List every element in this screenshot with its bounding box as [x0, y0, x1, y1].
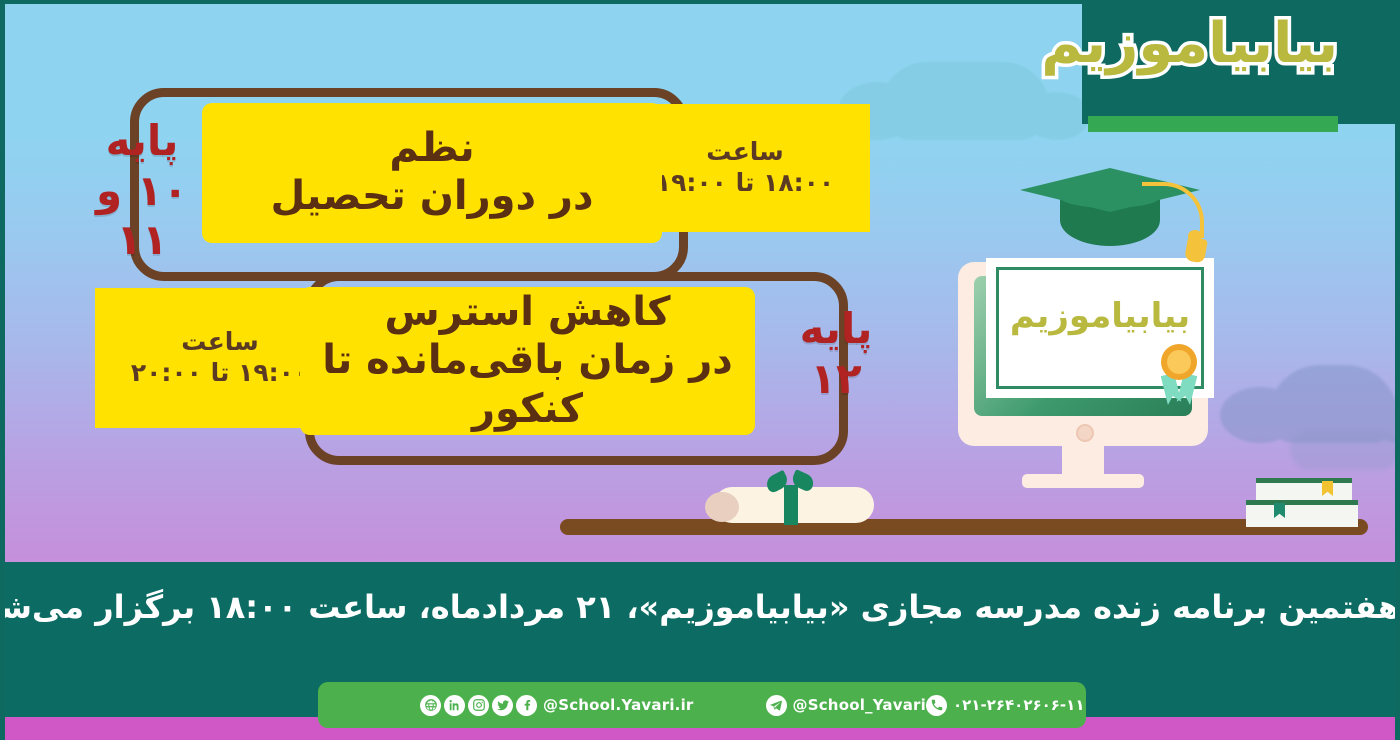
frame-left-border [0, 0, 5, 740]
grade-label-row1: پایه [88, 116, 196, 166]
cloud-decoration-small [1290, 430, 1400, 470]
telegram-group[interactable]: @School_Yavari [766, 695, 926, 716]
poster-canvas: بیابیاموزیم پایه ۱۰ و ۱۱ ساعت ۱۸:۰۰ تا ۱… [0, 0, 1400, 740]
monitor-stand-neck [1062, 446, 1104, 476]
topic-card-row2: کاهش استرس در زمان باقی‌مانده تا کنکور [300, 287, 755, 435]
time-value-row2: ۱۹:۰۰ تا ۲۰:۰۰ [131, 357, 309, 390]
linkedin-icon[interactable] [444, 695, 465, 716]
monitor-stand-base [1022, 474, 1144, 488]
brand-logo-text: بیابیاموزیم [1088, 16, 1338, 72]
frame-right-border [1395, 0, 1400, 740]
social-handle-group[interactable]: @School.Yavari.ir [380, 695, 694, 716]
announcement-text: هفتمین برنامه زنده مدرسه مجازی «بیابیامو… [0, 588, 1400, 626]
social-footer-bar: @School.Yavari.ir @School_Yavari ۰۲۱-۲۶۴… [318, 682, 1086, 728]
grade-label-row2: پایه [782, 304, 890, 354]
certificate-logo-text: بیابیاموزیم [986, 296, 1214, 336]
topic-card-row1: نظم در دوران تحصیل [202, 103, 662, 243]
frame-top-border [0, 0, 1400, 4]
grade-badge-row1: پایه ۱۰ و ۱۱ [88, 116, 196, 265]
graduation-cap-icon [1020, 168, 1200, 264]
topic-line1-row1: نظم [389, 125, 474, 172]
phone-group[interactable]: ۰۲۱-۲۶۴۰۲۶۰۶-۱۱ [926, 695, 1084, 716]
diploma-scroll-end [705, 492, 739, 522]
grade-value-row2: ۱۲ [782, 354, 890, 404]
cloud-decoration-sky [880, 62, 1050, 140]
grade-badge-row2: پایه ۱۲ [782, 304, 890, 403]
grade-value-row1: ۱۰ و ۱۱ [88, 166, 196, 265]
diploma-ribbon-band [784, 485, 798, 525]
telegram-icon[interactable] [766, 695, 787, 716]
telegram-handle-label: @School_Yavari [793, 696, 926, 714]
instagram-icon[interactable] [468, 695, 489, 716]
monitor-power-dot [1076, 424, 1094, 442]
brand-green-bar [1088, 116, 1338, 132]
phone-icon[interactable] [926, 695, 947, 716]
facebook-icon[interactable] [516, 695, 537, 716]
topic-line2-row2: در زمان باقی‌مانده تا کنکور [300, 336, 755, 434]
award-rosette-icon [1158, 344, 1200, 386]
rosette-core [1167, 350, 1191, 374]
certificate-card: بیابیاموزیم [986, 258, 1214, 398]
book-lower [1246, 500, 1358, 527]
social-icon-row [420, 695, 537, 716]
book-stack-icon [1246, 478, 1362, 524]
time-label-row1: ساعت [706, 136, 784, 167]
topic-line1-row2: کاهش استرس [385, 289, 671, 336]
globe-icon[interactable] [420, 695, 441, 716]
time-value-row1: ۱۸:۰۰ تا ۱۹:۰۰ [656, 167, 834, 200]
social-handle-label: @School.Yavari.ir [543, 696, 694, 714]
topic-line2-row1: در دوران تحصیل [271, 172, 594, 221]
twitter-icon[interactable] [492, 695, 513, 716]
brand-logo: بیابیاموزیم [1088, 16, 1338, 128]
time-label-row2: ساعت [181, 326, 259, 357]
phone-number-label: ۰۲۱-۲۶۴۰۲۶۰۶-۱۱ [953, 696, 1084, 714]
